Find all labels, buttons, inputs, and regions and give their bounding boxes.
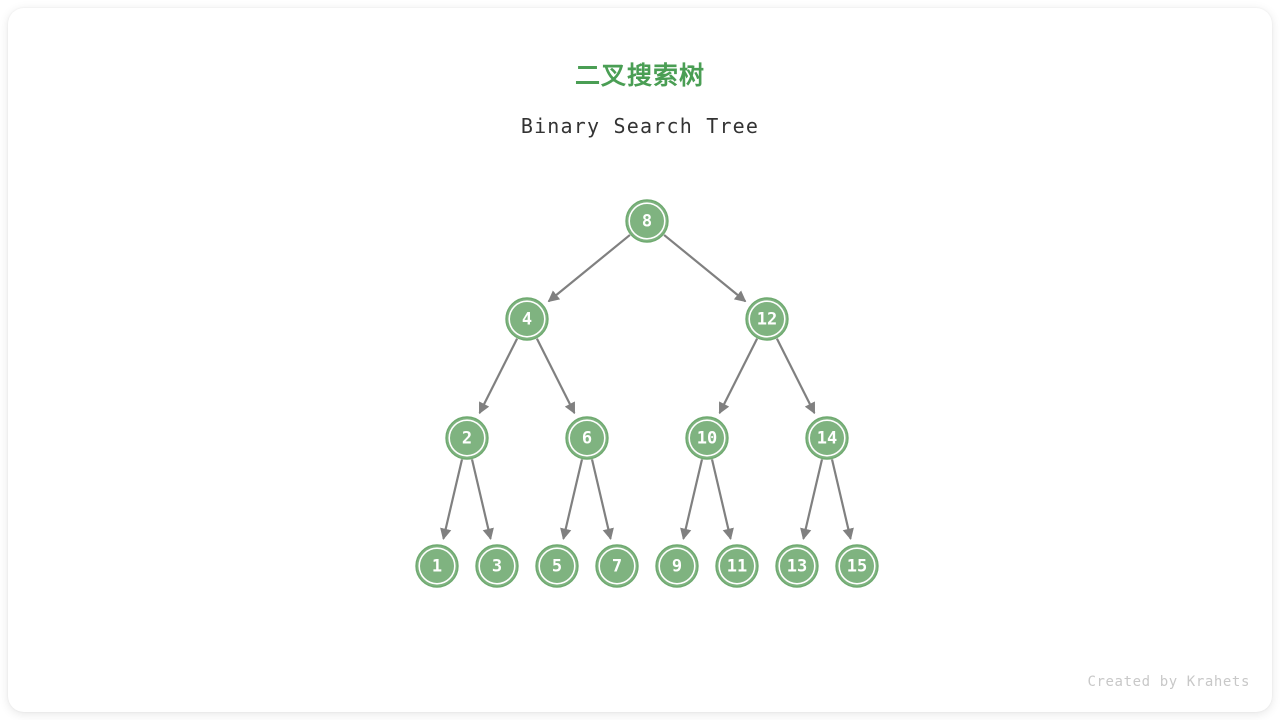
tree-node[interactable]: 15: [836, 545, 878, 587]
node-value-label: 4: [522, 310, 532, 330]
tree-node[interactable]: 9: [656, 545, 698, 587]
credit-text: Created by Krahets: [1087, 674, 1250, 690]
tree-edge: [537, 339, 574, 413]
tree-edges: [443, 235, 850, 539]
node-value-label: 3: [492, 557, 502, 577]
tree-edge: [832, 459, 851, 538]
tree-node[interactable]: 12: [746, 298, 788, 340]
node-value-label: 15: [847, 557, 867, 577]
tree-node[interactable]: 7: [596, 545, 638, 587]
node-value-label: 13: [787, 557, 807, 577]
node-value-label: 6: [582, 429, 592, 449]
node-value-label: 7: [612, 557, 622, 577]
node-value-label: 2: [462, 429, 472, 449]
binary-search-tree-diagram: 841226101413579111315: [8, 8, 1272, 712]
tree-edge: [720, 339, 757, 413]
tree-node[interactable]: 11: [716, 545, 758, 587]
node-value-label: 12: [757, 310, 777, 330]
tree-node[interactable]: 14: [806, 417, 848, 459]
tree-node[interactable]: 3: [476, 545, 518, 587]
tree-edge: [592, 459, 611, 538]
node-value-label: 5: [552, 557, 562, 577]
tree-node[interactable]: 5: [536, 545, 578, 587]
tree-edge: [683, 459, 702, 538]
tree-node[interactable]: 2: [446, 417, 488, 459]
node-value-label: 9: [672, 557, 682, 577]
tree-node[interactable]: 4: [506, 298, 548, 340]
node-value-label: 11: [727, 557, 747, 577]
tree-edge: [803, 459, 822, 538]
tree-nodes: 841226101413579111315: [416, 200, 878, 587]
tree-node[interactable]: 6: [566, 417, 608, 459]
tree-edge: [664, 235, 745, 301]
tree-edge: [712, 459, 731, 538]
tree-edge: [472, 459, 491, 538]
tree-node[interactable]: 10: [686, 417, 728, 459]
node-value-label: 8: [642, 212, 652, 232]
tree-edge: [549, 235, 630, 301]
tree-edge: [480, 339, 517, 413]
tree-node[interactable]: 13: [776, 545, 818, 587]
node-value-label: 10: [697, 429, 717, 449]
tree-edge: [777, 339, 814, 413]
tree-edge: [563, 459, 582, 538]
tree-node[interactable]: 1: [416, 545, 458, 587]
node-value-label: 14: [817, 429, 837, 449]
node-value-label: 1: [432, 557, 442, 577]
diagram-card: 二叉搜索树 Binary Search Tree 841226101413579…: [8, 8, 1272, 712]
tree-node[interactable]: 8: [626, 200, 668, 242]
tree-edge: [443, 459, 462, 538]
